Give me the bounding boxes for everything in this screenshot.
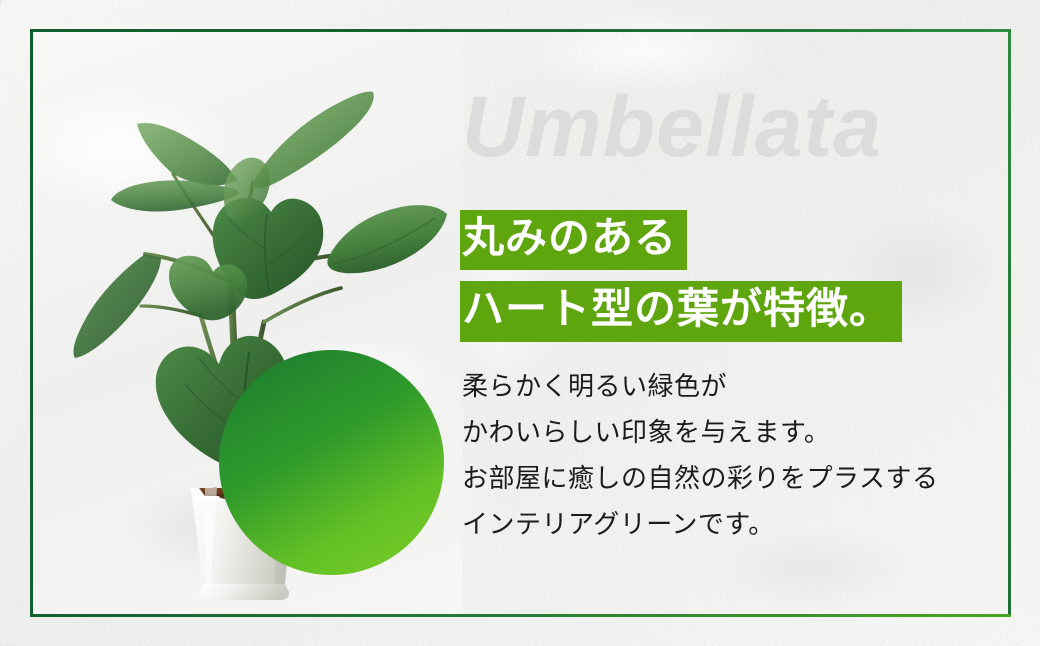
headline-block: 丸みのある ハート型の葉が特徴。 [460,210,902,342]
headline-line-1: 丸みのある [460,210,687,270]
description-line-2: かわいらしい印象を与えます。 [462,410,1002,456]
description-line-4: インテリアグリーンです。 [462,502,1002,548]
latin-species-name: Umbellata [462,84,882,170]
description-line-1: 柔らかく明るい緑色が [462,364,1002,410]
headline-line-2: ハート型の葉が特徴。 [460,281,902,341]
leaf-closeup-inset [224,355,439,570]
leaf-closeup-illustration [224,355,439,570]
product-banner: Umbellata 丸みのある ハート型の葉が特徴。 柔らかく明るい緑色が かわ… [0,0,1040,646]
description-line-3: お部屋に癒しの自然の彩りをプラスする [462,456,1002,502]
description-text: 柔らかく明るい緑色が かわいらしい印象を与えます。 お部屋に癒しの自然の彩りをプ… [462,364,1002,548]
